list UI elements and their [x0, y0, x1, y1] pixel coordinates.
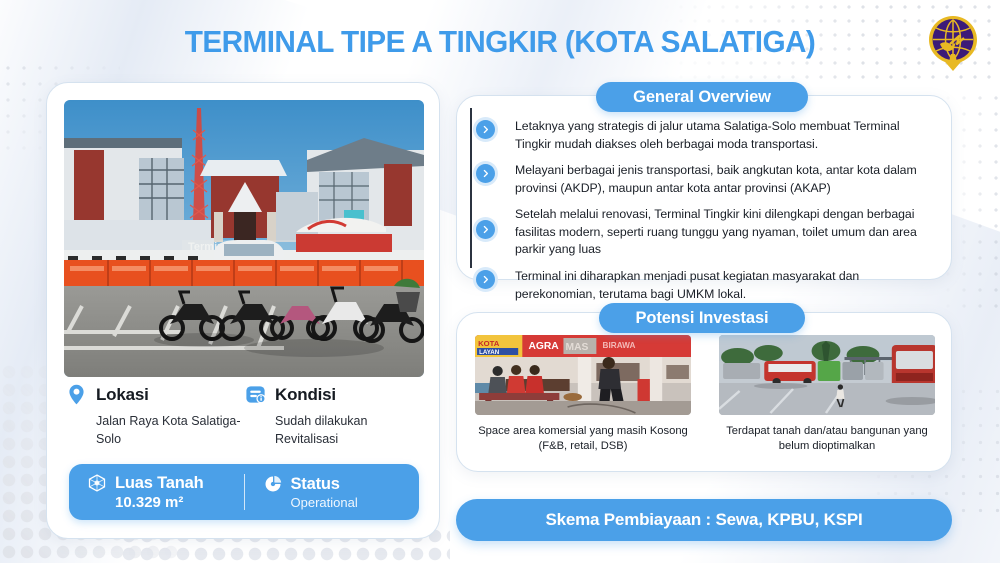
stats-bar: Luas Tanah 10.329 m² Status Operational: [69, 464, 419, 520]
timeline-spine: [470, 108, 472, 268]
overview-item-text: Setelah melalui renovasi, Terminal Tingk…: [515, 206, 937, 259]
commercial-space-photo: KOTA LAYAN AGRA MAS BIRAWA: [475, 335, 691, 415]
fact-kondisi-title: Kondisi: [275, 385, 336, 405]
stat-status-title: Status: [291, 475, 340, 494]
svg-text:BIRAWA: BIRAWA: [603, 341, 636, 350]
overview-item-text: Letaknya yang strategis di jalur utama S…: [515, 118, 937, 153]
list-item: Setelah melalui renovasi, Terminal Tingk…: [473, 206, 937, 259]
stat-status-value: Operational: [291, 495, 420, 510]
terminal-photo: Terminal Tipe A: [64, 100, 424, 377]
stat-status: Status Operational: [244, 474, 420, 510]
potensi-thumb-1: KOTA LAYAN AGRA MAS BIRAWA: [475, 335, 691, 455]
chevron-right-icon: [476, 220, 495, 239]
stat-luas-tanah-value: 10.329 m²: [115, 494, 244, 511]
general-overview-pill: General Overview: [596, 82, 808, 112]
list-item: Letaknya yang strategis di jalur utama S…: [473, 118, 937, 153]
condition-document-icon: [244, 383, 267, 406]
land-area-icon: [87, 473, 107, 493]
svg-text:AGRA: AGRA: [528, 341, 559, 352]
page-title: TERMINAL TIPE A TINGKIR (KOTA SALATIGA): [20, 24, 980, 60]
chevron-right-icon: [476, 120, 495, 139]
fact-group: Lokasi Jalan Raya Kota Salatiga-Solo: [65, 383, 423, 449]
fact-lokasi-header: Lokasi: [65, 383, 244, 406]
bus-parking-yard-photo: [719, 335, 935, 415]
slide-root: TERMINAL TIPE A TINGKIR (KOTA SALATIGA): [0, 0, 1000, 563]
stat-status-header: Status: [263, 474, 420, 494]
svg-text:KOTA: KOTA: [478, 339, 500, 348]
potensi-investasi-pill: Potensi Investasi: [599, 303, 805, 333]
fact-lokasi-body: Jalan Raya Kota Salatiga-Solo: [96, 413, 244, 449]
fact-lokasi: Lokasi Jalan Raya Kota Salatiga-Solo: [65, 383, 244, 449]
svg-text:MAS: MAS: [566, 342, 589, 353]
potensi-caption-2: Terdapat tanah dan/atau bangunan yang be…: [719, 424, 935, 455]
stat-luas-tanah-header: Luas Tanah: [87, 473, 244, 493]
fact-kondisi-header: Kondisi: [244, 383, 423, 406]
stat-luas-tanah: Luas Tanah 10.329 m²: [69, 473, 244, 511]
potensi-caption-1: Space area komersial yang masih Kosong (…: [475, 424, 691, 455]
fact-lokasi-title: Lokasi: [96, 385, 149, 405]
terminal-summary-card: Terminal Tipe A: [46, 82, 440, 539]
slide-header: TERMINAL TIPE A TINGKIR (KOTA SALATIGA): [0, 0, 1000, 82]
chevron-right-icon: [476, 270, 495, 289]
general-overview-card: Letaknya yang strategis di jalur utama S…: [456, 95, 952, 280]
potensi-thumb-2: Terdapat tanah dan/atau bangunan yang be…: [719, 335, 935, 455]
fact-kondisi: Kondisi Sudah dilakukan Revitalisasi: [244, 383, 423, 449]
svg-text:LAYAN: LAYAN: [479, 349, 499, 356]
list-item: Terminal ini diharapkan menjadi pusat ke…: [473, 268, 937, 303]
skema-pembiayaan-banner: Skema Pembiayaan : Sewa, KPBU, KSPI: [456, 499, 952, 541]
overview-bullet-list: Letaknya yang strategis di jalur utama S…: [473, 118, 937, 303]
overview-item-text: Melayani berbagai jenis transportasi, ba…: [515, 162, 937, 197]
status-pie-icon: [263, 474, 283, 494]
overview-item-text: Terminal ini diharapkan menjadi pusat ke…: [515, 268, 937, 303]
chevron-right-icon: [476, 164, 495, 183]
list-item: Melayani berbagai jenis transportasi, ba…: [473, 162, 937, 197]
potensi-thumb-group: KOTA LAYAN AGRA MAS BIRAWA: [475, 335, 935, 455]
location-pin-icon: [65, 383, 88, 406]
stat-luas-tanah-title: Luas Tanah: [115, 474, 203, 493]
kemenhub-globe-logo: [926, 14, 980, 70]
potensi-investasi-card: KOTA LAYAN AGRA MAS BIRAWA: [456, 312, 952, 472]
fact-kondisi-body: Sudah dilakukan Revitalisasi: [275, 413, 423, 449]
